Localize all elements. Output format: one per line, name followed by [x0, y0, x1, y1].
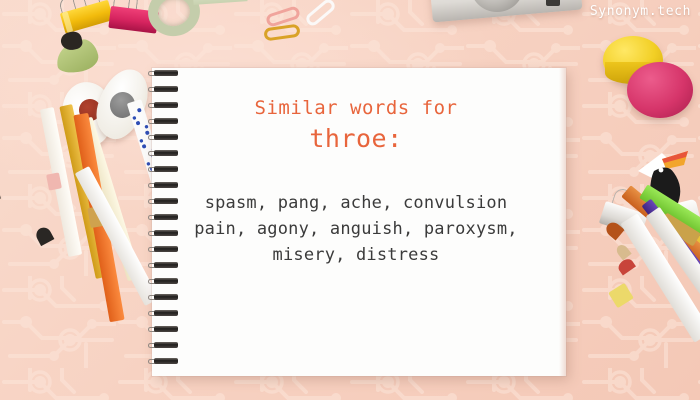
headword: throe: [152, 121, 560, 157]
spiral-ring [148, 198, 178, 205]
notepad-paper: Similar words for throe: spasm, pang, ac… [152, 68, 566, 376]
spiral-ring [148, 118, 178, 125]
synonym-line-1: spasm, pang, ache, convulsion [152, 191, 560, 217]
synonym-line-2: pain, agony, anguish, paroxysm, [152, 217, 560, 243]
spiral-ring [148, 182, 178, 189]
pencil-patterned-eraser [46, 172, 62, 190]
spiral-ring [148, 342, 178, 349]
similar-words-label: Similar words for [152, 97, 560, 121]
camera-button [546, 0, 560, 6]
spiral-ring [148, 214, 178, 221]
spiral-ring [148, 230, 178, 237]
synonym-line-3: misery, distress [152, 243, 560, 269]
spiral-ring [148, 262, 178, 269]
spiral-ring [148, 358, 178, 365]
spiral-ring [148, 310, 178, 317]
synonym-list: spasm, pang, ache, convulsion pain, agon… [152, 191, 560, 268]
spiral-ring [148, 134, 178, 141]
spiral-binding [148, 70, 182, 375]
spiral-ring [148, 294, 178, 301]
spiral-ring [148, 246, 178, 253]
spiral-ring [148, 70, 178, 77]
desk-background: Similar words for throe: spasm, pang, ac… [0, 0, 700, 400]
spiral-ring [148, 102, 178, 109]
site-logo: Synonym.tech [590, 4, 691, 19]
spiral-ring [148, 166, 178, 173]
spiral-ring [148, 278, 178, 285]
spiral-ring [148, 150, 178, 157]
spiral-ring [148, 326, 178, 333]
notepad-content: Similar words for throe: spasm, pang, ac… [152, 68, 560, 268]
spiral-ring [148, 86, 178, 93]
macaron-pink [627, 62, 693, 118]
